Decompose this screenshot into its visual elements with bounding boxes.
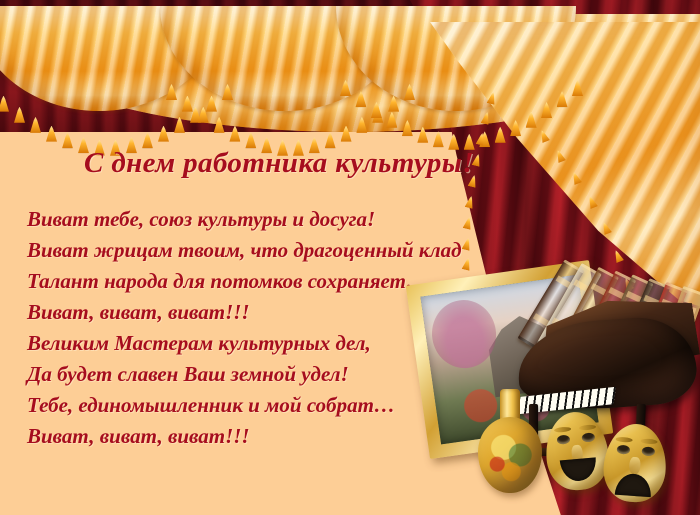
greeting-card: С днем работника культуры! Виват тебе, с… — [0, 0, 700, 515]
mask-eye — [581, 432, 595, 442]
mask-brow — [554, 426, 571, 432]
poem-line: Виват жрицам твоим, что драгоценный клад — [27, 235, 497, 266]
mask-mouth-smiling — [560, 458, 598, 483]
mask-eye — [617, 445, 631, 455]
tassel-icon — [433, 131, 444, 147]
mask-brow — [640, 438, 657, 444]
mask-nose — [629, 456, 641, 475]
vase-body — [478, 417, 542, 493]
mask-brow — [615, 437, 632, 443]
mask-mouth-frowning — [615, 472, 652, 496]
mask-brow — [579, 424, 596, 430]
poem-line: Виват тебе, союз культуры и досуга! — [27, 204, 497, 235]
painted-porcelain-vase-icon — [478, 389, 542, 493]
mask-eye — [557, 434, 571, 444]
page-title: С днем работника культуры! — [84, 147, 484, 180]
mask-eye — [641, 446, 655, 456]
tassel-icon — [62, 132, 73, 148]
